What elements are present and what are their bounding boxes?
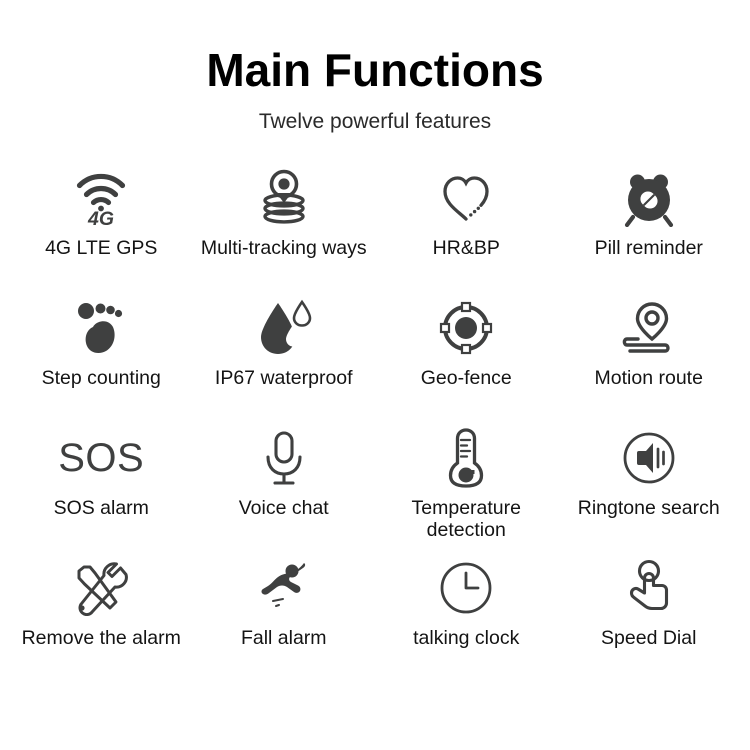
feature-item-4g-lte-gps: 4G 4G LTE GPS	[10, 167, 193, 297]
feature-item-fall-alarm: Fall alarm	[193, 557, 376, 687]
feature-poster: Main Functions Twelve powerful features …	[0, 0, 750, 750]
feature-item-speed-dial: Speed Dial	[558, 557, 741, 687]
feature-item-geo-fence: Geo-fence	[375, 297, 558, 427]
tools-icon	[72, 557, 130, 619]
footprint-icon	[73, 297, 129, 359]
feature-label: HR&BP	[433, 238, 500, 260]
clock-icon	[439, 557, 493, 619]
heart-rate-icon	[437, 167, 495, 229]
feature-label: IP67 waterproof	[215, 368, 353, 390]
feature-item-pill-reminder: Pill reminder	[558, 167, 741, 297]
feature-item-temperature-detection: Temperature detection	[375, 427, 558, 557]
sos-text-icon: SOS	[58, 427, 144, 489]
feature-item-remove-the-alarm: Remove the alarm	[10, 557, 193, 687]
feature-label: Ringtone search	[578, 498, 720, 520]
tap-hand-icon	[623, 557, 675, 619]
feature-label: 4G LTE GPS	[45, 238, 157, 260]
wifi-4g-badge-label: 4G	[87, 208, 114, 227]
feature-item-step-counting: Step counting	[10, 297, 193, 427]
wifi-4g-icon: 4G	[71, 167, 131, 229]
feature-label: Speed Dial	[601, 628, 696, 650]
feature-item-hr-bp: HR&BP	[375, 167, 558, 297]
microphone-icon	[261, 427, 307, 489]
water-drop-icon	[255, 297, 313, 359]
feature-label: Voice chat	[239, 498, 329, 520]
feature-label: Motion route	[595, 368, 703, 390]
feature-label: talking clock	[413, 628, 519, 650]
feature-item-ip67-waterproof: IP67 waterproof	[193, 297, 376, 427]
feature-label: Multi-tracking ways	[201, 238, 367, 260]
feature-label: Fall alarm	[241, 628, 327, 650]
sos-label: SOS	[58, 438, 144, 478]
feature-grid: 4G 4G LTE GPS Multi-tracking w	[0, 167, 750, 687]
multi-tracking-icon	[255, 167, 313, 229]
page-title: Main Functions	[0, 46, 750, 94]
header: Main Functions Twelve powerful features	[0, 0, 750, 133]
feature-item-motion-route: Motion route	[558, 297, 741, 427]
feature-item-talking-clock: talking clock	[375, 557, 558, 687]
pill-alarm-icon	[620, 167, 678, 229]
feature-label: Remove the alarm	[22, 628, 181, 650]
feature-item-voice-chat: Voice chat	[193, 427, 376, 557]
thermometer-icon	[446, 427, 486, 489]
feature-label: Geo-fence	[421, 368, 512, 390]
feature-item-multi-tracking-ways: Multi-tracking ways	[193, 167, 376, 297]
motion-route-icon	[619, 297, 679, 359]
falling-person-icon	[255, 557, 313, 619]
feature-label: Pill reminder	[595, 238, 703, 260]
feature-label: SOS alarm	[54, 498, 149, 520]
speaker-icon	[622, 427, 676, 489]
feature-label: Temperature detection	[376, 498, 556, 542]
geo-fence-icon	[438, 297, 494, 359]
page-subtitle: Twelve powerful features	[0, 110, 750, 133]
feature-label: Step counting	[42, 368, 161, 390]
feature-item-sos-alarm: SOS SOS alarm	[10, 427, 193, 557]
feature-item-ringtone-search: Ringtone search	[558, 427, 741, 557]
